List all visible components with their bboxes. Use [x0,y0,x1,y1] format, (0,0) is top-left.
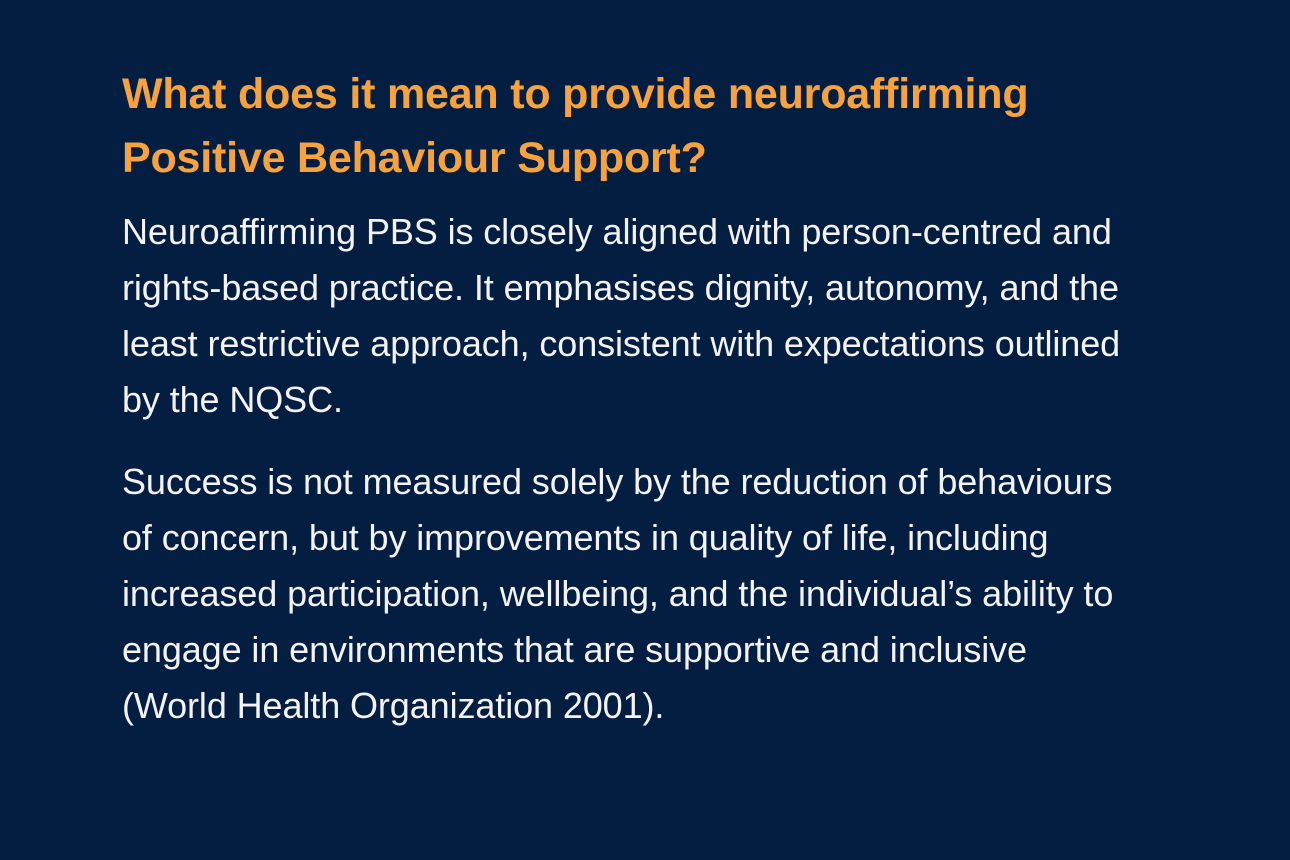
slide-heading: What does it mean to provide neuroaffirm… [122,62,1122,190]
slide-container: What does it mean to provide neuroaffirm… [0,0,1290,860]
slide-content: What does it mean to provide neuroaffirm… [122,62,1132,734]
body-paragraph-success: Success is not measured solely by the re… [122,454,1132,734]
body-paragraph-alignment: Neuroaffirming PBS is closely aligned wi… [122,204,1132,428]
